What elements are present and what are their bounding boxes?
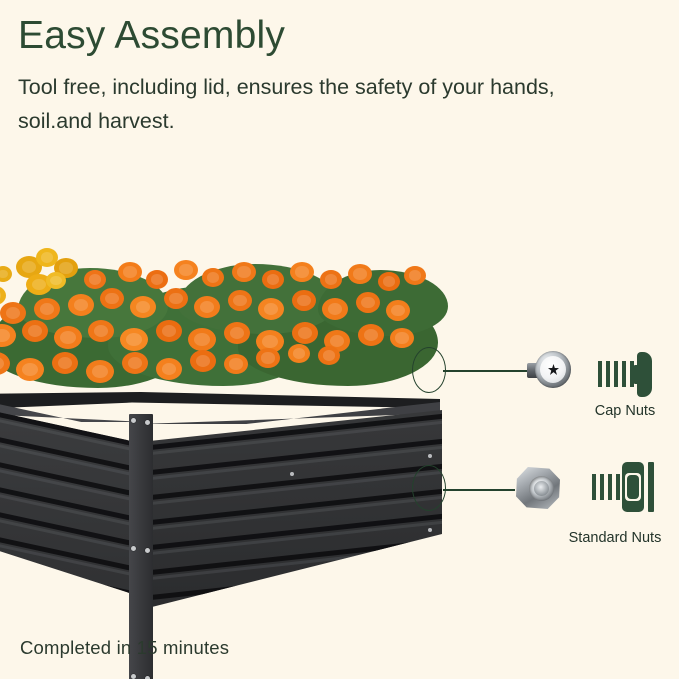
callout-standard-nuts: Standard Nuts [0, 0, 679, 679]
callout-leader-line [443, 489, 515, 491]
hex-nut-photo [514, 466, 562, 510]
hex-nut-thread-hole [529, 476, 554, 501]
standard-nut-diagram-icon [592, 462, 662, 514]
callout-label-standard-nuts: Standard Nuts [552, 530, 678, 546]
completion-time-caption: Completed in 15 minutes [20, 637, 229, 659]
infographic-page: Easy Assembly Tool free, including lid, … [0, 0, 679, 679]
hex-nut-core [627, 475, 639, 499]
callout-highlight-circle [412, 465, 446, 511]
